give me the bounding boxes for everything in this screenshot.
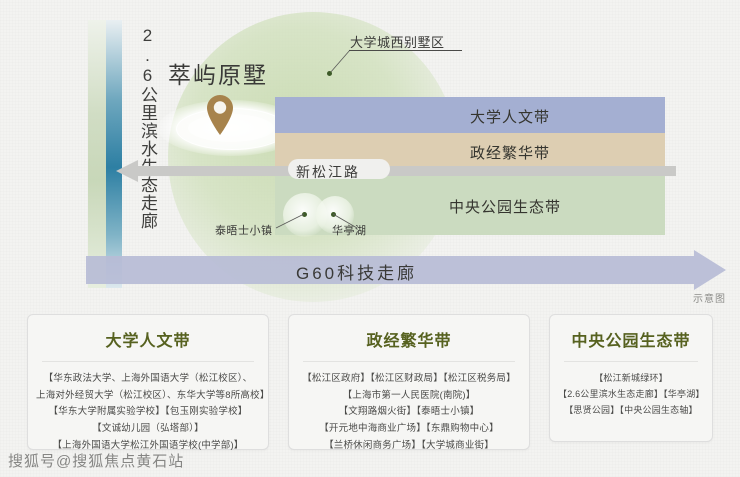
- schematic-note: 示意图: [693, 290, 726, 305]
- card-title: 政经繁华带: [289, 327, 529, 351]
- annotation-villa-district: 大学城西别墅区: [350, 32, 445, 51]
- g60-corridor-label: G60科技走廊: [296, 259, 417, 284]
- card-university-culture: 大学人文带 【华东政法大学、上海外国语大学（松江校区）、 上海对外经贸大学（松江…: [27, 314, 269, 450]
- band-label-university-culture: 大学人文带: [470, 106, 550, 127]
- card-line: 【兰桥休闲商务广场】【大学城商业街】: [297, 438, 521, 455]
- green-vertical-strip: [88, 20, 106, 288]
- card-body: 【华东政法大学、上海外国语大学（松江校区）、 上海对外经贸大学（松江校区）、东华…: [28, 362, 268, 454]
- card-title: 大学人文带: [28, 327, 268, 351]
- road-arrow-left-icon: [116, 160, 676, 182]
- card-line: 【思贤公园】【中央公园生态轴】: [558, 403, 704, 419]
- annotation-villa-underline: [349, 50, 462, 51]
- card-line: 上海对外经贸大学（松江校区）、东华大学等8所高校】: [36, 388, 260, 405]
- card-line: 【文诚幼儿园（弘塔部）】: [36, 421, 260, 438]
- annotation-taiwushi-town: 泰晤士小镇: [215, 222, 273, 238]
- road-label-xinsongjiang: 新松江路: [296, 162, 360, 182]
- card-line: 【华东大学附属实验学校】【包玉刚实验学校】: [36, 404, 260, 421]
- annotation-huating-lake: 华亭湖: [332, 222, 367, 238]
- point-dot-taiwushi: [302, 212, 307, 217]
- waterfront-corridor-vertical-label: 2.6公里滨水生态走廊: [126, 26, 156, 286]
- card-line: 【松江区政府】【松江区财政局】【松江区税务局】: [297, 371, 521, 388]
- card-body: 【松江新城绿环】 【2.6公里滨水生态走廊】【华亭湖】 【思贤公园】【中央公园生…: [550, 362, 712, 418]
- card-line: 【2.6公里滨水生态走廊】【华亭湖】: [558, 387, 704, 403]
- card-line: 【上海市第一人民医院(南院)】: [297, 388, 521, 405]
- map-pin-icon: [205, 94, 235, 136]
- band-label-central-park-eco: 中央公园生态带: [449, 196, 561, 217]
- project-name-label: 萃屿原墅: [168, 56, 268, 90]
- card-line: 【文翔路烟火街】【泰晤士小镇】: [297, 404, 521, 421]
- card-body: 【松江区政府】【松江区财政局】【松江区税务局】 【上海市第一人民医院(南院)】 …: [289, 362, 529, 454]
- point-dot-huatinglake: [331, 212, 336, 217]
- card-political-economic: 政经繁华带 【松江区政府】【松江区财政局】【松江区税务局】 【上海市第一人民医院…: [288, 314, 530, 450]
- card-central-park-eco: 中央公园生态带 【松江新城绿环】 【2.6公里滨水生态走廊】【华亭湖】 【思贤公…: [549, 314, 713, 442]
- card-line: 【松江新城绿环】: [558, 371, 704, 387]
- schematic-diagram: 2.6公里滨水生态走廊 萃屿原墅 大学人文带 政经繁华带 中央公园生态带 新松江…: [0, 0, 740, 310]
- card-line: 【开元地中海商业广场】【东鼎购物中心】: [297, 421, 521, 438]
- point-dot-villa-district: [327, 71, 332, 76]
- card-line: 【华东政法大学、上海外国语大学（松江校区）、: [36, 371, 260, 388]
- blue-waterfront-strip: [106, 20, 122, 288]
- card-title: 中央公园生态带: [550, 327, 712, 351]
- watermark-text: 搜狐号@搜狐焦点黄石站: [8, 450, 184, 471]
- info-cards-container: 大学人文带 【华东政法大学、上海外国语大学（松江校区）、 上海对外经贸大学（松江…: [0, 314, 740, 454]
